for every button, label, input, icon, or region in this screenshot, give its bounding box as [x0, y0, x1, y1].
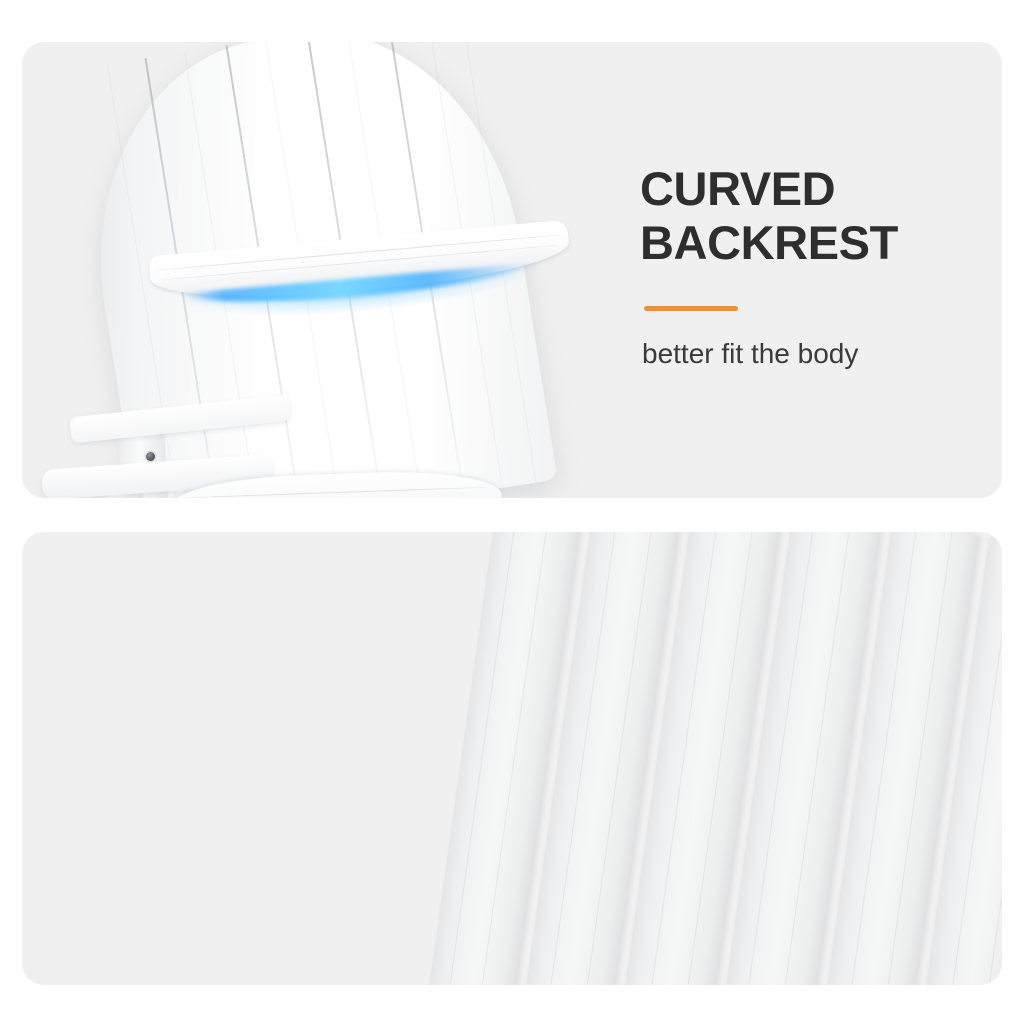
feature-panel-wide-armrests: WIDE ARMRESTS for better arm relaxation	[22, 532, 1002, 985]
panel-headline-line1: CURVED	[640, 162, 990, 216]
backrest-slat-field	[424, 532, 1002, 985]
panel-headline-line2: BACKREST	[640, 216, 990, 270]
copy-block-curved-backrest: CURVED BACKREST better fit the body	[640, 162, 990, 371]
armrest-closeup-photo	[22, 532, 1002, 985]
feature-panel-curved-backrest: CURVED BACKREST better fit the body	[22, 42, 1002, 498]
panel-subline: better fit the body	[642, 337, 990, 371]
accent-rule	[644, 306, 738, 311]
bolt-icon	[146, 452, 155, 461]
product-feature-page: CURVED BACKREST better fit the body	[0, 0, 1024, 1024]
